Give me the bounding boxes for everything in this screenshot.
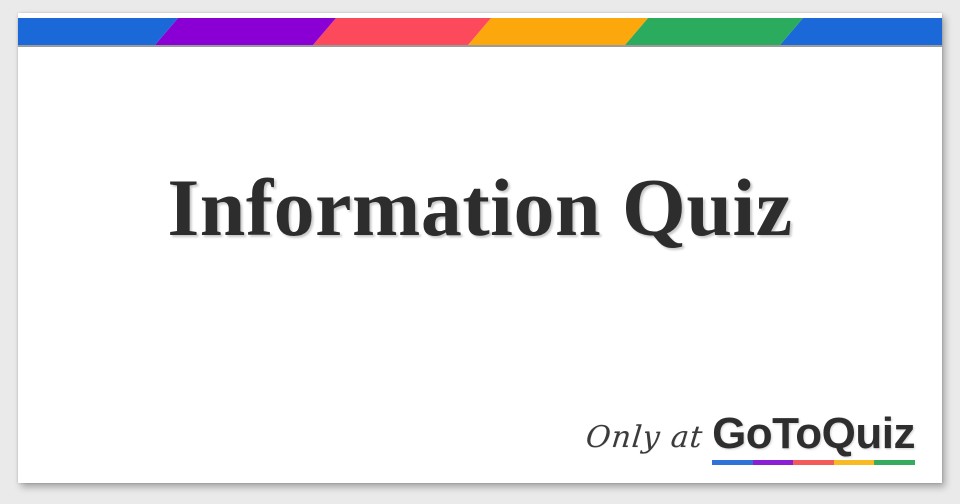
brand-prefix-text: Only at (585, 423, 705, 453)
brand-name-text: GoToQuiz (712, 412, 915, 456)
gotoquiz-logo[interactable]: GoToQuiz (712, 412, 915, 465)
color-bar-segment-red-2 (311, 18, 493, 45)
color-bar-segment-blue-5 (778, 18, 942, 45)
color-bar-segment-orange-3 (466, 18, 650, 45)
color-bar-segment-green-4 (623, 18, 805, 45)
brand-underline-bar (712, 460, 915, 465)
page-background: Information Quiz Only at GoToQuiz (0, 0, 960, 504)
top-color-bar (18, 18, 942, 45)
page-title: Information Quiz (167, 167, 792, 249)
brand-underline-segment-red-2 (793, 460, 834, 465)
color-bar-divider (18, 45, 942, 47)
color-bar-segment-blue-0 (18, 18, 180, 45)
brand-lockup: Only at GoToQuiz (586, 412, 915, 465)
brand-underline-segment-blue-0 (712, 460, 753, 465)
brand-underline-segment-orange-3 (834, 460, 875, 465)
color-bar-segment-purple-1 (153, 18, 338, 45)
quiz-title-card: Information Quiz Only at GoToQuiz (18, 13, 942, 483)
brand-underline-segment-green-4 (874, 460, 915, 465)
brand-underline-segment-purple-1 (753, 460, 794, 465)
